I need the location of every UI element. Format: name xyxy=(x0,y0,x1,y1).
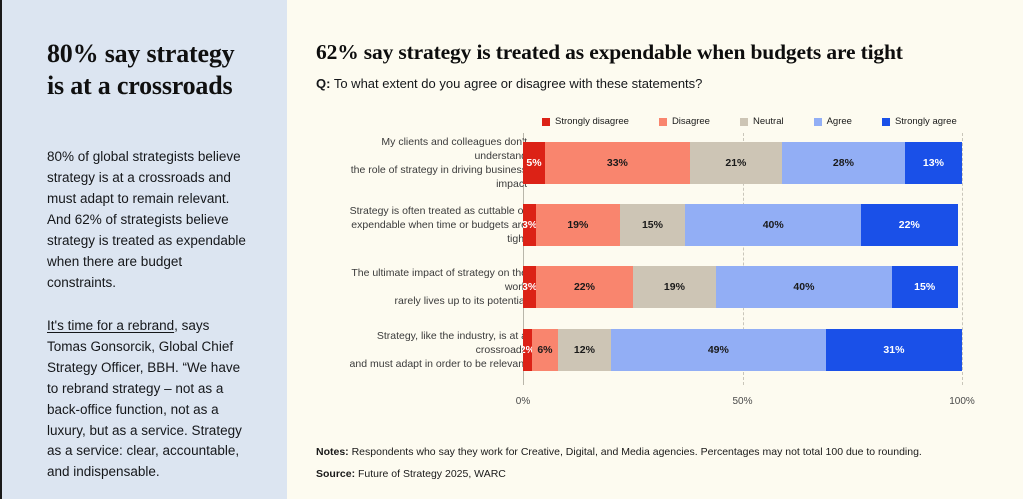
legend-swatch-icon xyxy=(814,118,822,126)
bar-segment-agree[interactable]: 28% xyxy=(782,142,905,184)
chart-row-label: Strategy, like the industry, is at a cro… xyxy=(337,329,527,371)
bar-segment-strongly-agree[interactable]: 22% xyxy=(861,204,958,246)
chart-notes-label: Notes: xyxy=(316,446,349,458)
legend-item-strongly-disagree[interactable]: Strongly disagree xyxy=(542,116,629,127)
chart-source-label: Source: xyxy=(316,468,355,480)
legend-item-label: Neutral xyxy=(753,116,784,127)
bar-segment-strongly-disagree[interactable]: 3% xyxy=(523,266,536,308)
chart-row-label-line: and must adapt in order to be relevant xyxy=(337,357,527,371)
chart-row-label-line: Strategy is often treated as cuttable or xyxy=(337,204,527,218)
bar-segment-strongly-disagree[interactable]: 3% xyxy=(523,204,536,246)
bar-segment-disagree[interactable]: 19% xyxy=(536,204,619,246)
legend-item-neutral[interactable]: Neutral xyxy=(740,116,784,127)
bar-segment-agree[interactable]: 40% xyxy=(716,266,892,308)
legend-swatch-icon xyxy=(882,118,890,126)
legend-item-label: Strongly disagree xyxy=(555,116,629,127)
chart-row-label-line: the role of strategy in driving business… xyxy=(337,163,527,191)
x-axis-labels: 0%50%100% xyxy=(287,396,1023,412)
legend-item-label: Agree xyxy=(827,116,852,127)
legend-item-agree[interactable]: Agree xyxy=(814,116,852,127)
chart-title: 62% say strategy is treated as expendabl… xyxy=(316,40,903,65)
chart-row-label: The ultimate impact of strategy on the w… xyxy=(337,266,527,308)
bar-segment-agree[interactable]: 49% xyxy=(611,329,826,371)
chart-source-text: Future of Strategy 2025, WARC xyxy=(358,468,506,480)
chart-row-label-line: rarely lives up to its potential xyxy=(337,294,527,308)
x-axis-tick-label: 50% xyxy=(732,396,752,407)
legend-item-strongly-agree[interactable]: Strongly agree xyxy=(882,116,957,127)
chart-panel: 62% say strategy is treated as expendabl… xyxy=(287,0,1023,499)
x-axis-tick-label: 100% xyxy=(949,396,975,407)
chart-row-label-line: The ultimate impact of strategy on the w… xyxy=(337,266,527,294)
stacked-bar: 5%33%21%28%13% xyxy=(523,142,962,184)
chart-row-label-line: Strategy, like the industry, is at a cro… xyxy=(337,329,527,357)
legend-swatch-icon xyxy=(659,118,667,126)
bar-segment-disagree[interactable]: 6% xyxy=(532,329,558,371)
left-panel-title-line2: is at a crossroads xyxy=(47,71,232,100)
chart-row-label-line: expendable when time or budgets are tigh… xyxy=(337,218,527,246)
bar-segment-neutral[interactable]: 19% xyxy=(633,266,716,308)
left-sidebar-panel: 80% say strategy is at a crossroads 80% … xyxy=(2,0,287,499)
left-panel-title: 80% say strategy is at a crossroads xyxy=(47,38,251,101)
chart-plot-area: My clients and colleagues don't understa… xyxy=(287,133,1023,395)
stacked-bar: 2%6%12%49%31% xyxy=(523,329,962,371)
legend-item-label: Disagree xyxy=(672,116,710,127)
legend-swatch-icon xyxy=(740,118,748,126)
chart-row: The ultimate impact of strategy on the w… xyxy=(287,266,1023,308)
bar-segment-neutral[interactable]: 15% xyxy=(620,204,686,246)
stacked-bar: 3%22%19%40%15% xyxy=(523,266,962,308)
chart-row-label: My clients and colleagues don't understa… xyxy=(337,142,527,184)
chart-question-prefix: Q: xyxy=(316,76,330,91)
bar-segment-agree[interactable]: 40% xyxy=(685,204,861,246)
bar-segment-strongly-agree[interactable]: 13% xyxy=(905,142,962,184)
bar-segment-neutral[interactable]: 21% xyxy=(690,142,782,184)
bar-segment-strongly-agree[interactable]: 15% xyxy=(892,266,958,308)
left-panel-paragraph-2-rest: , says Tomas Gonsorcik, Global Chief Str… xyxy=(47,318,242,479)
left-panel-paragraph-1: 80% of global strategists believe strate… xyxy=(47,147,251,293)
chart-row: Strategy, like the industry, is at a cro… xyxy=(287,329,1023,371)
stacked-bar: 3%19%15%40%22% xyxy=(523,204,962,246)
chart-row: My clients and colleagues don't understa… xyxy=(287,142,1023,184)
rebrand-link[interactable]: It's time for a rebrand xyxy=(47,318,174,333)
bar-segment-disagree[interactable]: 22% xyxy=(536,266,633,308)
left-panel-title-line1: 80% say strategy xyxy=(47,39,234,68)
chart-question-text: To what extent do you agree or disagree … xyxy=(334,76,703,91)
chart-source: Source: Future of Strategy 2025, WARC xyxy=(316,468,506,480)
bar-segment-strongly-agree[interactable]: 31% xyxy=(826,329,962,371)
chart-question: Q: To what extent do you agree or disagr… xyxy=(316,76,702,91)
legend-item-label: Strongly agree xyxy=(895,116,957,127)
x-axis-tick-label: 0% xyxy=(516,396,530,407)
bar-segment-strongly-disagree[interactable]: 5% xyxy=(523,142,545,184)
chart-row-label-line: My clients and colleagues don't understa… xyxy=(337,135,527,163)
legend-swatch-icon xyxy=(542,118,550,126)
bar-segment-disagree[interactable]: 33% xyxy=(545,142,690,184)
bar-segment-neutral[interactable]: 12% xyxy=(558,329,611,371)
bar-segment-strongly-disagree[interactable]: 2% xyxy=(523,329,532,371)
infographic-page: 80% say strategy is at a crossroads 80% … xyxy=(0,0,1023,499)
left-panel-paragraph-2: It's time for a rebrand, says Tomas Gons… xyxy=(47,316,251,483)
chart-notes: Notes: Respondents who say they work for… xyxy=(316,446,922,458)
chart-row-label: Strategy is often treated as cuttable or… xyxy=(337,204,527,246)
chart-notes-text: Respondents who say they work for Creati… xyxy=(352,446,922,458)
legend-item-disagree[interactable]: Disagree xyxy=(659,116,710,127)
chart-legend: Strongly disagreeDisagreeNeutralAgreeStr… xyxy=(542,116,957,127)
chart-row: Strategy is often treated as cuttable or… xyxy=(287,204,1023,246)
